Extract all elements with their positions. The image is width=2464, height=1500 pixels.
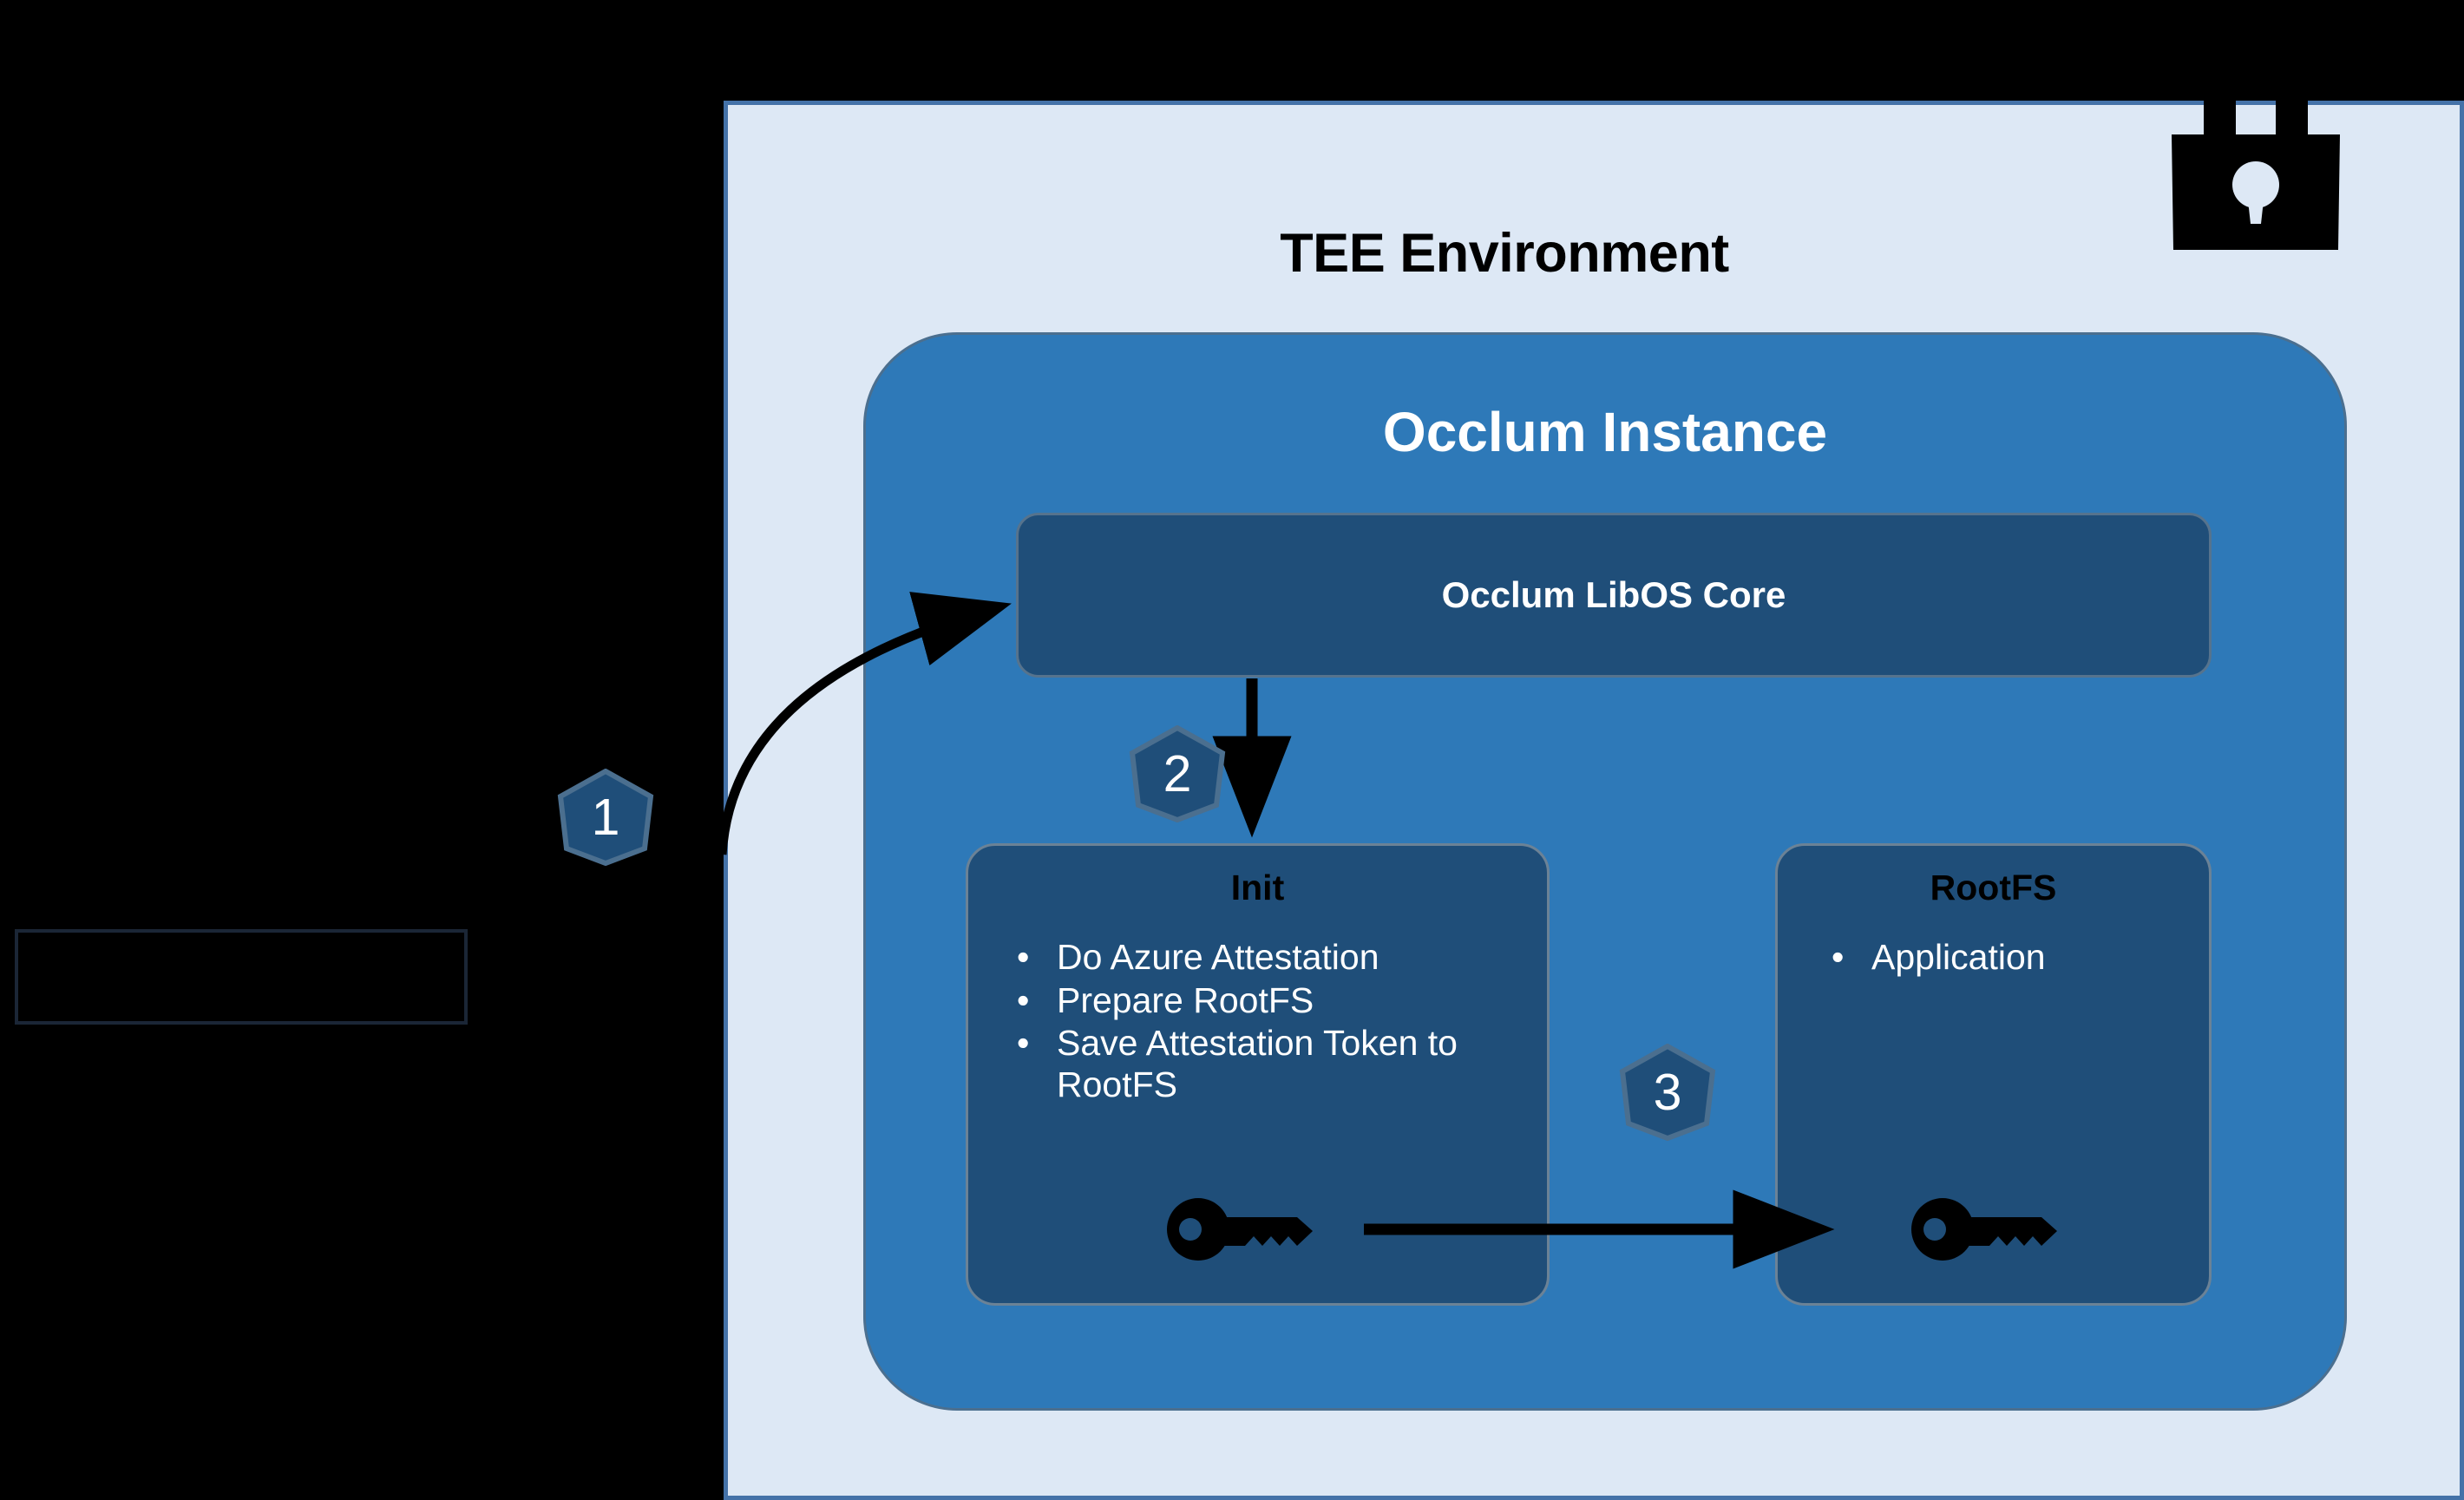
init-bullet-list: Do Azure Attestation Prepare RootFS Save… (1008, 937, 1535, 1107)
step-badge-3: 3 (1615, 1044, 1720, 1141)
step-badge-3-label: 3 (1615, 1044, 1720, 1141)
rootfs-box-title: RootFS (1778, 870, 2209, 906)
list-item: Save Attestation Token to RootFS (1008, 1023, 1535, 1105)
tee-environment-title: TEE Environment (728, 226, 2281, 281)
occlum-libos-core-box: Occlum LibOS Core (1016, 513, 2212, 678)
key-icon (1911, 1195, 2076, 1263)
step-badge-1: 1 (554, 769, 658, 866)
rootfs-bullet-list: Application (1823, 937, 2202, 980)
list-item: Application (1823, 937, 2202, 979)
step-badge-2: 2 (1125, 725, 1229, 822)
left-placeholder-box (15, 929, 468, 1025)
occlum-libos-core-label: Occlum LibOS Core (1442, 577, 1786, 613)
diagram-canvas: TEE Environment Occlum Instance Occlum L… (0, 0, 2464, 1500)
step-badge-1-label: 1 (554, 769, 658, 866)
list-item: Do Azure Attestation (1008, 937, 1535, 979)
list-item: Prepare RootFS (1008, 980, 1535, 1022)
key-icon (1167, 1195, 1332, 1263)
occlum-instance-title: Occlum Instance (866, 404, 2344, 460)
step-badge-2-label: 2 (1125, 725, 1229, 822)
init-box-title: Init (968, 870, 1547, 906)
